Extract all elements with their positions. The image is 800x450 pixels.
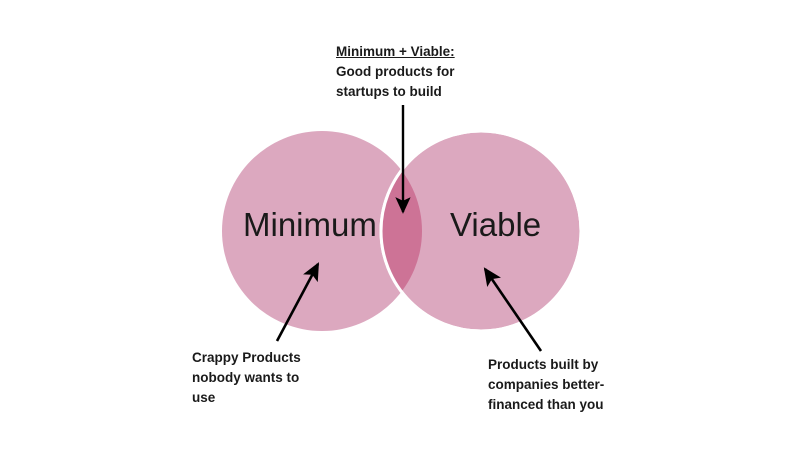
annotation-minimum: Crappy Products nobody wants to use — [192, 348, 342, 408]
annotation-intersection-line-2: startups to build — [336, 82, 506, 102]
set-label-minimum: Minimum — [243, 206, 377, 244]
annotation-viable-line-3: financed than you — [488, 395, 653, 415]
annotation-minimum-line-3: use — [192, 388, 342, 408]
annotation-intersection: Minimum + Viable: Good products for star… — [336, 42, 506, 102]
annotation-intersection-line-1: Good products for — [336, 62, 506, 82]
annotation-minimum-line-1: Crappy Products — [192, 348, 342, 368]
annotation-viable-line-2: companies better- — [488, 375, 653, 395]
annotation-minimum-line-2: nobody wants to — [192, 368, 342, 388]
annotation-viable: Products built by companies better- fina… — [488, 355, 653, 415]
venn-diagram: Minimum Viable Minimum + Viable: Good pr… — [0, 0, 800, 450]
set-label-viable: Viable — [450, 206, 541, 244]
annotation-intersection-heading: Minimum + Viable: — [336, 42, 506, 62]
annotation-viable-line-1: Products built by — [488, 355, 653, 375]
